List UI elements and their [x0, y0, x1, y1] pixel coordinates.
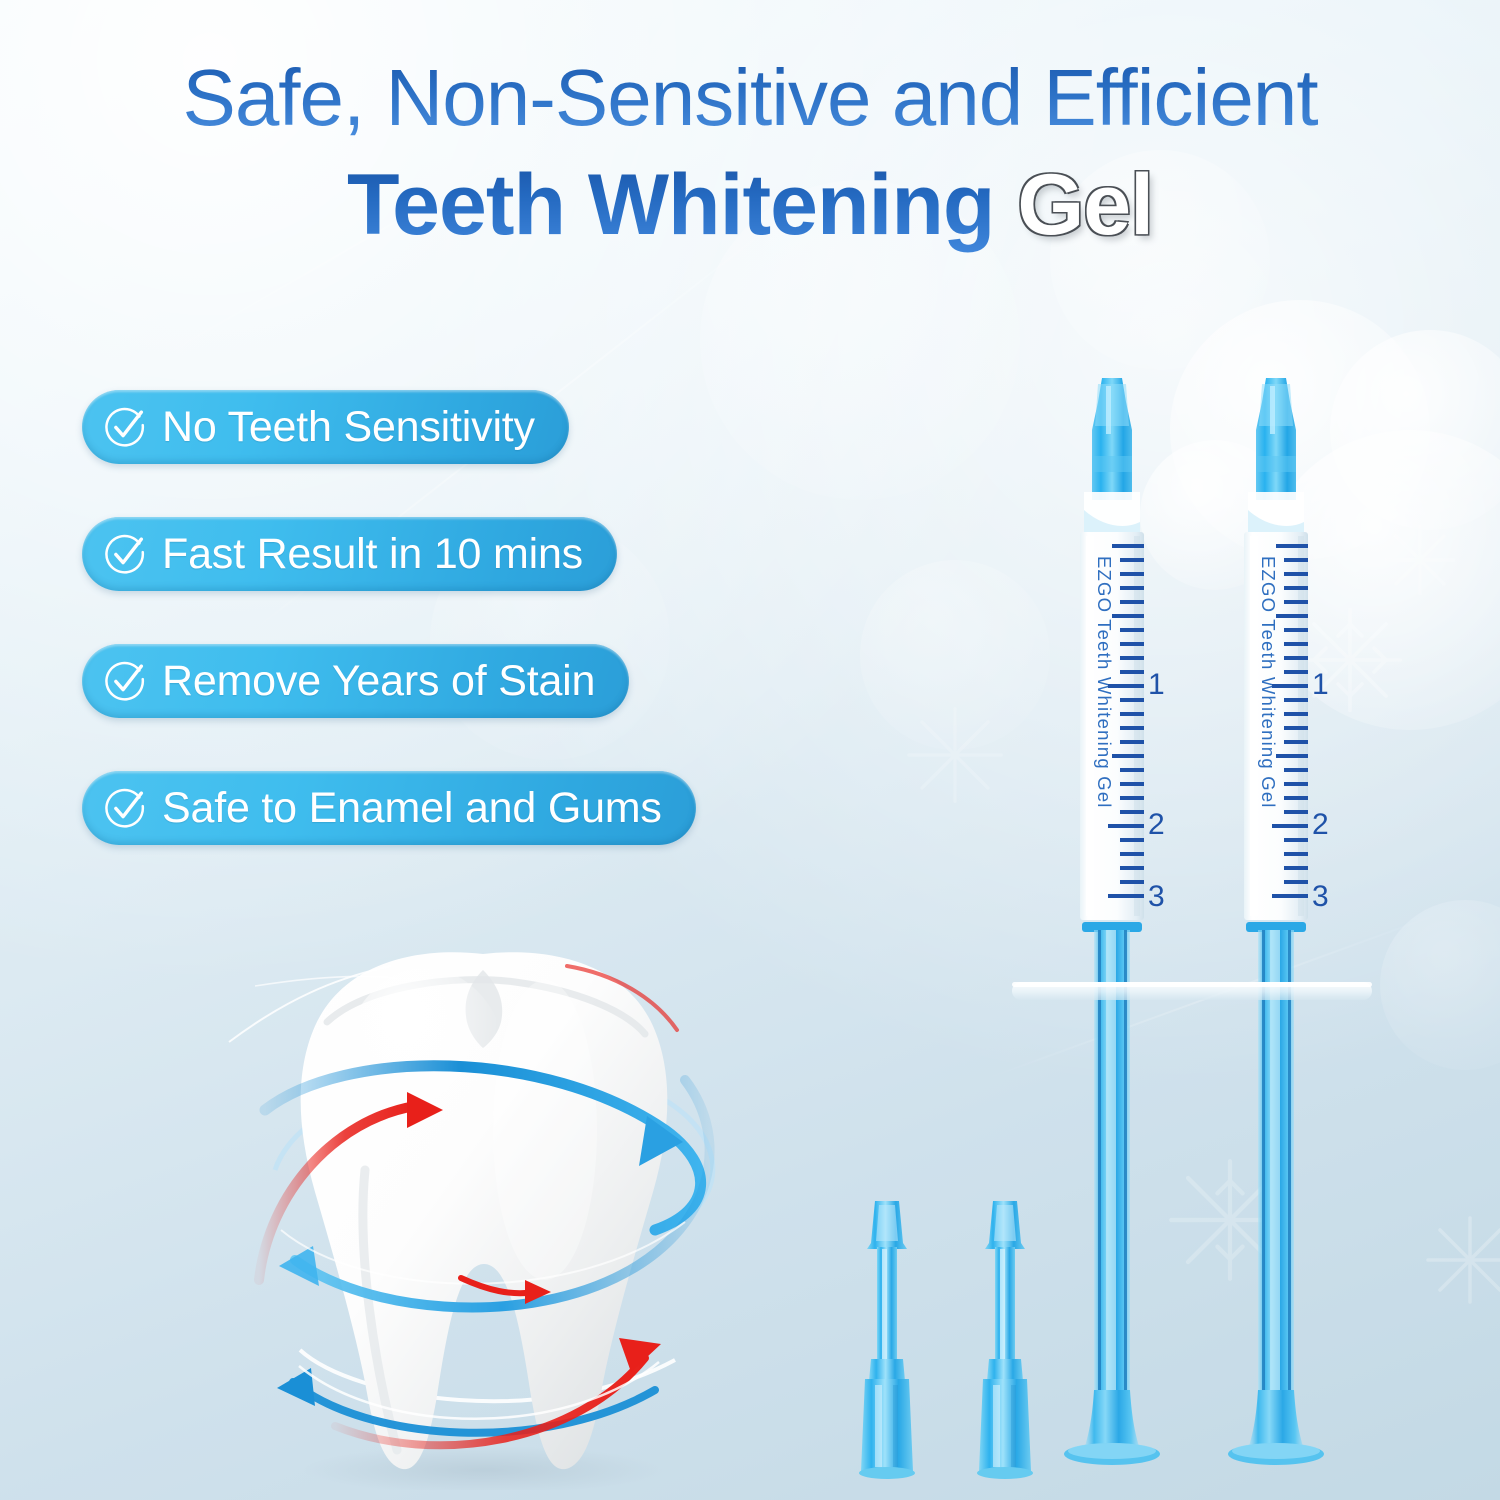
headline-line-1: Safe, Non-Sensitive and Efficient [0, 56, 1500, 139]
feature-label: No Teeth Sensitivity [162, 403, 535, 452]
graduation-number-1: 1 [1312, 668, 1329, 701]
syringe-label-text: EZGO Teeth Whitening Gel [1258, 556, 1279, 809]
feature-pill-fast-result[interactable]: Fast Result in 10 mins [82, 517, 617, 591]
graduation-number-2: 2 [1148, 808, 1165, 841]
syringe-2: EZGO Teeth Whitening Gel [1228, 378, 1329, 1465]
graduation-number-3: 3 [1312, 880, 1329, 913]
feature-pill-remove-stain[interactable]: Remove Years of Stain [82, 644, 629, 718]
applicator-tip-pair [845, 1185, 1075, 1500]
feature-pill-safe-enamel[interactable]: Safe to Enamel and Gums [82, 771, 696, 845]
graduation-number-3: 3 [1148, 880, 1165, 913]
check-circle-icon [102, 658, 148, 704]
applicator-tip-2 [977, 1201, 1033, 1479]
syringe-1: EZGO Teeth Whitening Gel [1064, 378, 1165, 1465]
graduation-number-1: 1 [1148, 668, 1165, 701]
feature-label: Fast Result in 10 mins [162, 530, 583, 579]
headline-line-2: Teeth Whitening Gel [0, 161, 1500, 250]
graduation-number-2: 2 [1312, 808, 1329, 841]
feature-label: Safe to Enamel and Gums [162, 784, 662, 833]
applicator-tip-1 [859, 1201, 915, 1479]
headline-block: Safe, Non-Sensitive and Efficient Teeth … [0, 56, 1500, 251]
check-circle-icon [102, 785, 148, 831]
check-circle-icon [102, 404, 148, 450]
check-circle-icon [102, 531, 148, 577]
syringe-flange [1012, 982, 1372, 1000]
feature-list: No Teeth Sensitivity Fast Result in 10 m… [82, 390, 696, 898]
feature-pill-no-sensitivity[interactable]: No Teeth Sensitivity [82, 390, 569, 464]
tooth-illustration [215, 930, 755, 1490]
product-marketing-banner: Safe, Non-Sensitive and Efficient Teeth … [0, 0, 1500, 1500]
headline-gel-word: Gel [1017, 157, 1153, 253]
headline-product-name: Teeth Whitening [347, 157, 994, 253]
syringe-label-text: EZGO Teeth Whitening Gel [1094, 556, 1115, 809]
feature-label: Remove Years of Stain [162, 657, 595, 706]
